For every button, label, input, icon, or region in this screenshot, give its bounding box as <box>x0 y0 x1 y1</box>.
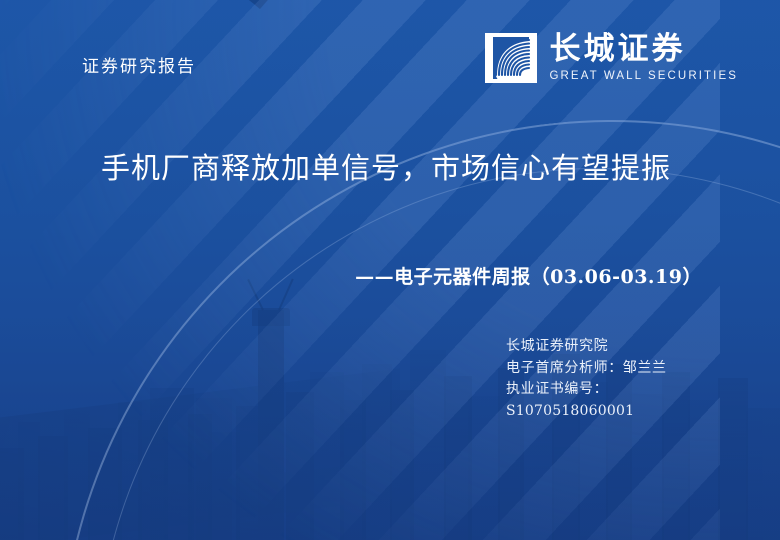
byline-institute: 长城证券研究院 <box>506 336 667 358</box>
byline-license-number: S1070518060001 <box>506 401 667 423</box>
report-cover-slide: 证券研究报告 <box>0 0 780 540</box>
great-wall-mark-icon <box>485 33 537 83</box>
report-subtitle: ——电子元器件周报（03.06-03.19） <box>355 262 702 289</box>
cover-content: 证券研究报告 <box>0 0 780 540</box>
byline-license-label: 执业证书编号： <box>506 379 667 401</box>
byline-analyst: 电子首席分析师：邹兰兰 <box>506 358 667 380</box>
brand-logo: 长城证券 GREAT WALL SECURITIES <box>485 33 738 83</box>
logo-name-en: GREAT WALL SECURITIES <box>549 70 738 82</box>
logo-name-cn: 长城证券 <box>549 33 738 66</box>
analyst-byline: 长城证券研究院 电子首席分析师：邹兰兰 执业证书编号： S10705180600… <box>506 336 667 423</box>
report-title: 手机厂商释放加单信号，市场信心有望提振 <box>60 146 712 192</box>
report-kicker: 证券研究报告 <box>82 52 196 77</box>
